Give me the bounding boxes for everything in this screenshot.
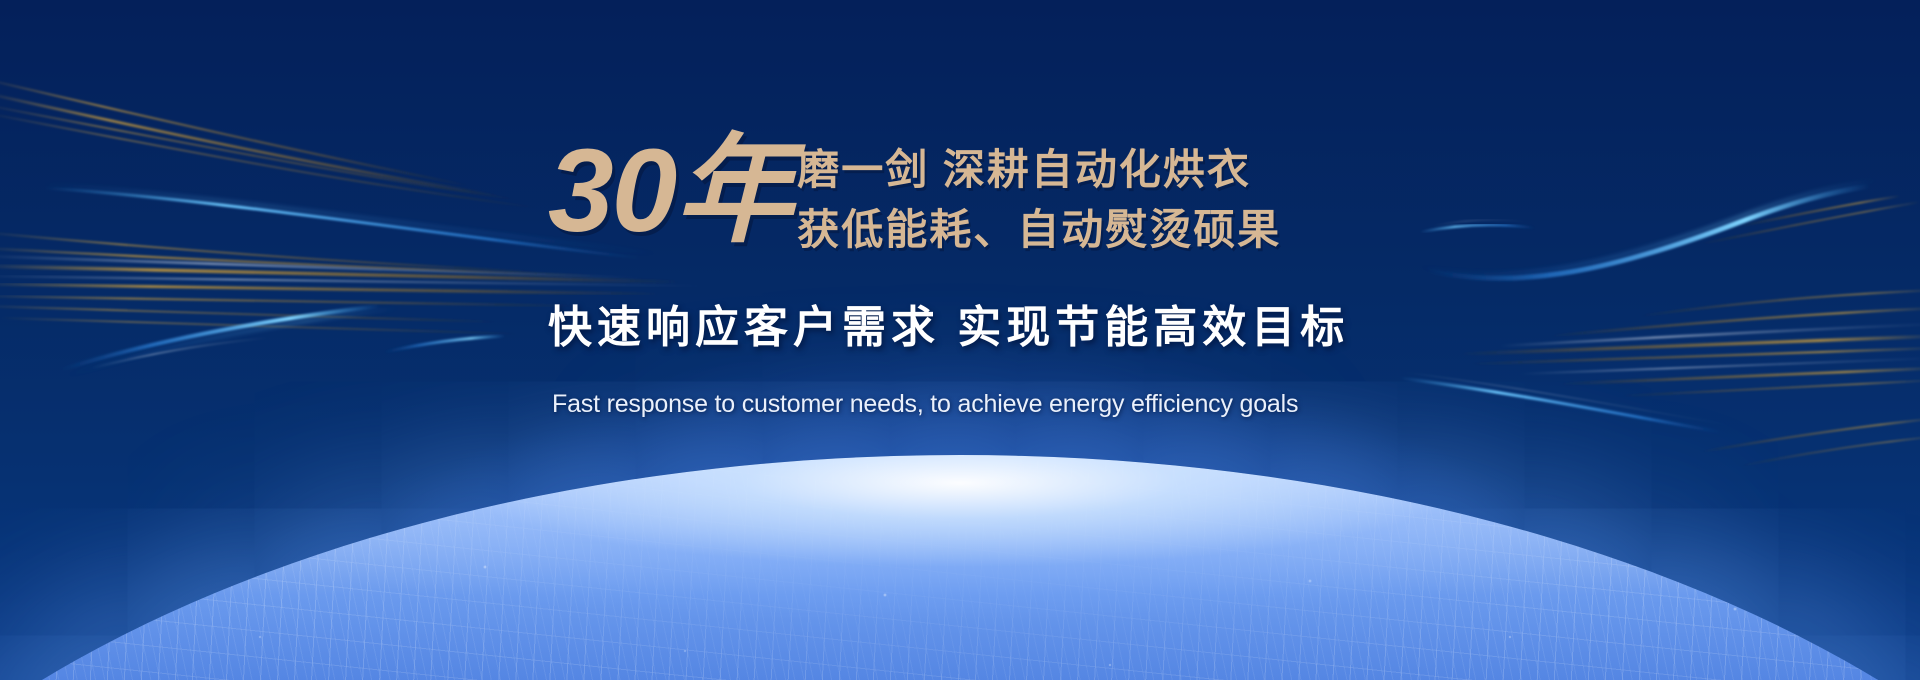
banner-content: 30年 磨一剑 深耕自动化烘衣 获低能耗、自动熨烫硕果 快速响应客户需求 实现节… (0, 0, 1920, 680)
gold-headline-line-1: 磨一剑 深耕自动化烘衣 (797, 140, 1281, 200)
slogan-english: Fast response to customer needs, to achi… (552, 390, 1298, 419)
headline-row: 30年 磨一剑 深耕自动化烘衣 获低能耗、自动熨烫硕果 (548, 132, 1281, 260)
years-number: 30年 (548, 132, 791, 250)
gold-headline-lines: 磨一剑 深耕自动化烘衣 获低能耗、自动熨烫硕果 (797, 140, 1281, 260)
slogan-chinese: 快速响应客户需求 实现节能高效目标 (548, 300, 1349, 355)
gold-headline-line-2: 获低能耗、自动熨烫硕果 (797, 200, 1281, 260)
promo-banner: 30年 磨一剑 深耕自动化烘衣 获低能耗、自动熨烫硕果 快速响应客户需求 实现节… (0, 0, 1920, 680)
